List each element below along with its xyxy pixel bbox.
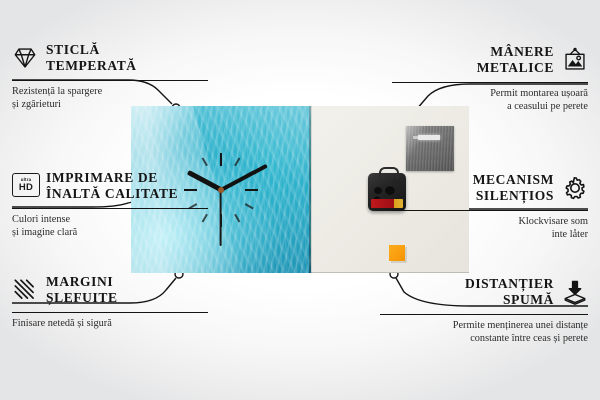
callout-subtitle: Rezistență la spargere și zgârieturi	[12, 85, 208, 112]
callout-print-quality: ultra HD IMPRIMARE DE ÎNALTĂ CALITATE Cu…	[12, 170, 208, 240]
callout-title: STICLĂ TEMPERATĂ	[46, 42, 137, 75]
hanging-picture-frame-icon	[562, 47, 588, 73]
callout-title: DISTANȚIER SPUMĂ	[465, 276, 554, 309]
callout-subtitle: Culori intense și imagine clară	[12, 213, 208, 240]
callout-tempered-glass: STICLĂ TEMPERATĂ Rezistență la spargere …	[12, 42, 208, 112]
clock-center-cap	[218, 187, 224, 193]
callout-rule	[12, 312, 208, 313]
diagonal-lines-icon	[12, 277, 38, 303]
metal-hanger-plate	[406, 126, 454, 171]
callout-subtitle: Finisare netedă și sigură	[12, 317, 208, 330]
callout-title: IMPRIMARE DE ÎNALTĂ CALITATE	[46, 170, 178, 203]
callout-polished-edges: MARGINI ȘLEFUITE Finisare netedă și sigu…	[12, 274, 208, 330]
diamond-icon	[12, 45, 38, 71]
callout-header: STICLĂ TEMPERATĂ	[12, 42, 208, 75]
callout-header: ultra HD IMPRIMARE DE ÎNALTĂ CALITATE	[12, 170, 208, 203]
callout-title: MÂNERE METALICE	[477, 44, 554, 77]
ultra-hd-large-text: HD	[19, 183, 33, 193]
ultra-hd-icon: ultra HD	[12, 173, 38, 199]
clock-second-hand	[220, 190, 222, 246]
callout-rule	[392, 82, 588, 83]
callout-title: MARGINI ȘLEFUITE	[46, 274, 118, 307]
infographic-canvas: STICLĂ TEMPERATĂ Rezistență la spargere …	[0, 0, 600, 400]
arrow-onto-pad-icon	[562, 279, 588, 305]
callout-rule	[392, 210, 588, 211]
callout-header: MECANISM SILENȚIOS	[392, 172, 588, 205]
callout-rule	[12, 208, 208, 209]
callout-rule	[380, 314, 588, 315]
callout-title: MECANISM SILENȚIOS	[473, 172, 554, 205]
callout-header: MARGINI ȘLEFUITE	[12, 274, 208, 307]
callout-subtitle: Permite menținerea unei distanțe constan…	[380, 319, 588, 346]
callout-rule	[12, 80, 208, 81]
gear-icon	[562, 175, 588, 201]
callout-metal-handles: MÂNERE METALICE Permit montarea ușoară a…	[392, 44, 588, 114]
callout-silent-mechanism: MECANISM SILENȚIOS Klockvisare som inte …	[392, 172, 588, 242]
mechanism-knob	[374, 186, 382, 194]
callout-header: MÂNERE METALICE	[392, 44, 588, 77]
callout-foam-spacer: DISTANȚIER SPUMĂ Permite menținerea unei…	[380, 276, 588, 346]
callout-header: DISTANȚIER SPUMĂ	[380, 276, 588, 309]
foam-spacer-pad	[389, 245, 405, 261]
callout-subtitle: Klockvisare som inte låter	[392, 215, 588, 242]
hanger-slot-secondary	[413, 136, 419, 139]
hanger-slot	[418, 135, 440, 140]
callout-subtitle: Permit montarea ușoară a ceasului pe per…	[392, 87, 588, 114]
